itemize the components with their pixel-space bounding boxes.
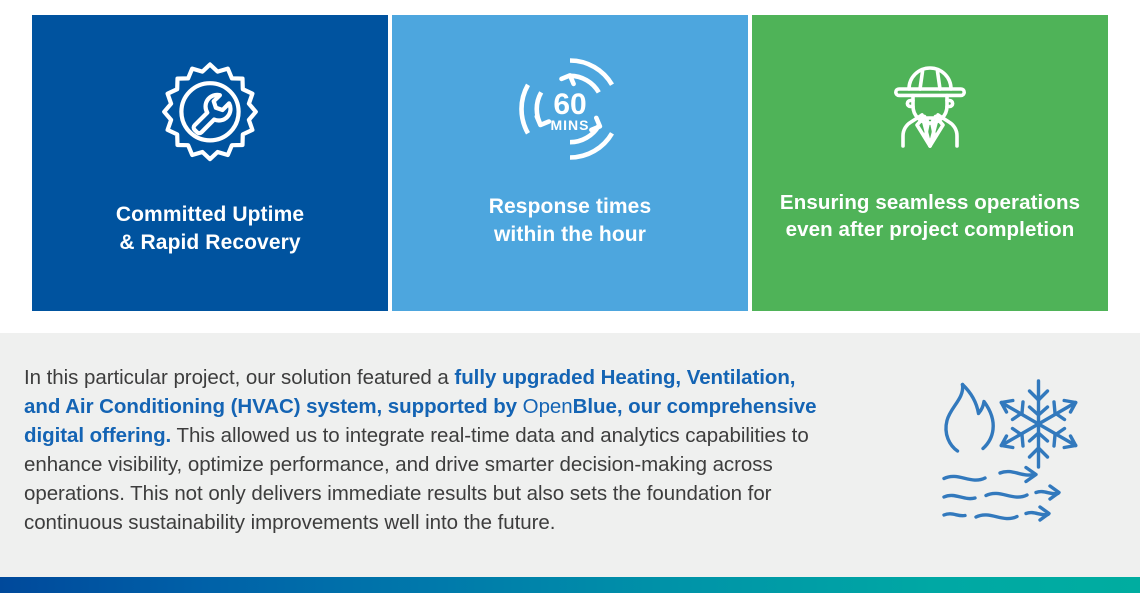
feature-card-title: Committed Uptime & Rapid Recovery [102,201,318,257]
feature-card-committed-uptime[interactable]: Committed Uptime & Rapid Recovery [32,15,388,311]
brand-blue: Blue [573,395,617,418]
snowflake-icon [1001,381,1075,467]
hard-hat-worker-icon [868,47,992,167]
feature-card-seamless-operations[interactable]: Ensuring seamless operations even after … [752,15,1108,311]
body-copy-wrap: In this particular project, our solution… [24,363,824,537]
feature-cards-band: Committed Uptime & Rapid Recovery [32,15,1108,311]
mins-unit: MINS [551,117,590,133]
feature-card-title: Ensuring seamless operations even after … [766,189,1094,244]
hvac-flame-snowflake-airflow-icon [938,378,1086,533]
airflow-arrows-icon [944,468,1059,521]
gradient-divider [0,577,1140,593]
gear-wrench-icon [154,53,266,173]
flame-icon [946,385,993,452]
feature-card-title: Response times within the hour [475,193,665,249]
brand-open: Open [523,395,573,418]
sixty-minutes-cycle-icon: 60 MINS [511,49,629,169]
project-description-paragraph: In this particular project, our solution… [24,363,824,537]
feature-card-response-times[interactable]: 60 MINS Response times within the hour [392,15,748,311]
paragraph-lead: In this particular project, our solution… [24,366,454,389]
